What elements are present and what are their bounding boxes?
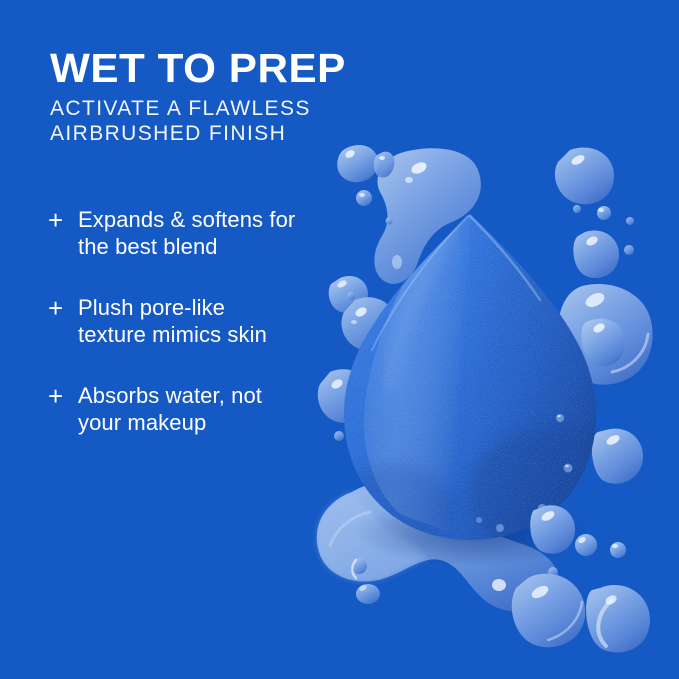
list-item-label: Plush pore-like texture mimics skin [78,294,338,348]
page-title: WET TO PREP [50,46,346,90]
plus-icon: + [48,294,78,348]
list-item-label: Absorbs water, not your makeup [78,382,338,436]
list-item: + Absorbs water, not your makeup [48,382,338,436]
list-item: + Plush pore-like texture mimics skin [48,294,338,348]
plus-icon: + [48,206,78,260]
benefit-list: + Expands & softens for the best blend +… [48,206,338,470]
subtitle: ACTIVATE A FLAWLESS AIRBRUSHED FINISH [50,96,311,146]
plus-icon: + [48,382,78,436]
copy-block: WET TO PREP ACTIVATE A FLAWLESS AIRBRUSH… [0,0,679,679]
list-item: + Expands & softens for the best blend [48,206,338,260]
product-feature-graphic: WET TO PREP ACTIVATE A FLAWLESS AIRBRUSH… [0,0,679,679]
list-item-label: Expands & softens for the best blend [78,206,338,260]
